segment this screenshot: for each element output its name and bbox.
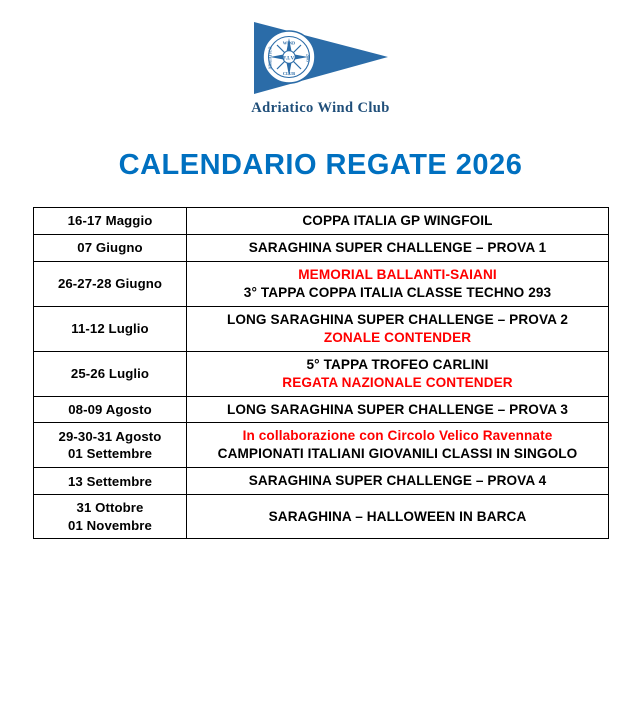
table-row: 07 GiugnoSARAGHINA SUPER CHALLENGE – PRO… — [34, 234, 609, 261]
event-name-cell: LONG SARAGHINA SUPER CHALLENGE – PROVA 3 — [187, 396, 609, 423]
event-name-cell: SARAGHINA SUPER CHALLENGE – PROVA 1 — [187, 234, 609, 261]
event-date-line: 11-12 Luglio — [38, 320, 182, 337]
event-title-line: SARAGHINA SUPER CHALLENGE – PROVA 1 — [191, 239, 604, 257]
event-date-cell: 25-26 Luglio — [34, 351, 187, 396]
event-title-line: 5° TAPPA TROFEO CARLINI — [191, 356, 604, 374]
event-name-cell: 5° TAPPA TROFEO CARLINIREGATA NAZIONALE … — [187, 351, 609, 396]
event-date-line: 29-30-31 Agosto — [38, 428, 182, 445]
event-title-line: LONG SARAGHINA SUPER CHALLENGE – PROVA 2 — [191, 311, 604, 329]
table-row: 29-30-31 Agosto01 SettembreIn collaboraz… — [34, 423, 609, 468]
event-date-line: 01 Novembre — [38, 517, 182, 534]
event-name-cell: SARAGHINA – HALLOWEEN IN BARCA — [187, 495, 609, 539]
event-title-line: COPPA ITALIA GP WINGFOIL — [191, 212, 604, 230]
event-name-cell: LONG SARAGHINA SUPER CHALLENGE – PROVA 2… — [187, 306, 609, 351]
burgee-svg: F.I.V. WIND CLUB ADRIATICO 2005 — [236, 18, 406, 98]
event-note-line: ZONALE CONTENDER — [191, 329, 604, 347]
table-row: 11-12 LuglioLONG SARAGHINA SUPER CHALLEN… — [34, 306, 609, 351]
event-note-line: REGATA NAZIONALE CONTENDER — [191, 374, 604, 392]
event-date-line: 31 Ottobre — [38, 499, 182, 516]
emblem-center-label: F.I.V. — [283, 56, 295, 62]
event-date-cell: 16-17 Maggio — [34, 208, 187, 235]
calendar-page: F.I.V. WIND CLUB ADRIATICO 2005 Adriatic… — [0, 0, 641, 710]
event-title-line: LONG SARAGHINA SUPER CHALLENGE – PROVA 3 — [191, 401, 604, 419]
table-row: 16-17 MaggioCOPPA ITALIA GP WINGFOIL — [34, 208, 609, 235]
event-name-cell: In collaborazione con Circolo Velico Rav… — [187, 423, 609, 468]
regatta-calendar-table: 16-17 MaggioCOPPA ITALIA GP WINGFOIL07 G… — [33, 207, 609, 539]
event-date-cell: 29-30-31 Agosto01 Settembre — [34, 423, 187, 468]
event-date-cell: 13 Settembre — [34, 468, 187, 495]
event-title-line: 3° TAPPA COPPA ITALIA CLASSE TECHNO 293 — [191, 284, 604, 302]
page-title: CALENDARIO REGATE 2026 — [0, 149, 641, 182]
emblem-ring-left-label: ADRIATICO — [267, 46, 272, 69]
event-date-line: 26-27-28 Giugno — [38, 275, 182, 292]
table-row: 08-09 AgostoLONG SARAGHINA SUPER CHALLEN… — [34, 396, 609, 423]
event-date-cell: 08-09 Agosto — [34, 396, 187, 423]
table-row: 31 Ottobre01 NovembreSARAGHINA – HALLOWE… — [34, 495, 609, 539]
event-name-cell: MEMORIAL BALLANTI-SAIANI3° TAPPA COPPA I… — [187, 261, 609, 306]
event-date-cell: 31 Ottobre01 Novembre — [34, 495, 187, 539]
event-date-line: 07 Giugno — [38, 239, 182, 256]
event-date-line: 08-09 Agosto — [38, 401, 182, 418]
event-date-line: 01 Settembre — [38, 445, 182, 462]
emblem-ring-top-label: WIND — [282, 41, 294, 46]
burgee-flag-icon: F.I.V. WIND CLUB ADRIATICO 2005 — [236, 18, 406, 98]
event-date-line: 25-26 Luglio — [38, 365, 182, 382]
table-row: 26-27-28 GiugnoMEMORIAL BALLANTI-SAIANI3… — [34, 261, 609, 306]
event-title-line: CAMPIONATI ITALIANI GIOVANILI CLASSI IN … — [191, 445, 604, 463]
event-date-cell: 26-27-28 Giugno — [34, 261, 187, 306]
calendar-table-body: 16-17 MaggioCOPPA ITALIA GP WINGFOIL07 G… — [34, 208, 609, 539]
event-note-line: MEMORIAL BALLANTI-SAIANI — [191, 266, 604, 284]
club-name-label: Adriatico Wind Club — [0, 100, 641, 117]
event-title-line: SARAGHINA SUPER CHALLENGE – PROVA 4 — [191, 472, 604, 490]
event-note-line: In collaborazione con Circolo Velico Rav… — [191, 427, 604, 445]
emblem-ring-bottom-label: CLUB — [282, 71, 294, 76]
event-name-cell: COPPA ITALIA GP WINGFOIL — [187, 208, 609, 235]
event-date-line: 13 Settembre — [38, 473, 182, 490]
event-date-line: 16-17 Maggio — [38, 212, 182, 229]
table-row: 13 SettembreSARAGHINA SUPER CHALLENGE – … — [34, 468, 609, 495]
table-row: 25-26 Luglio5° TAPPA TROFEO CARLINIREGAT… — [34, 351, 609, 396]
club-logo: F.I.V. WIND CLUB ADRIATICO 2005 Adriatic… — [0, 18, 641, 117]
event-date-cell: 07 Giugno — [34, 234, 187, 261]
event-name-cell: SARAGHINA SUPER CHALLENGE – PROVA 4 — [187, 468, 609, 495]
emblem-ring-right-label: 2005 — [305, 54, 310, 62]
event-title-line: SARAGHINA – HALLOWEEN IN BARCA — [191, 508, 604, 526]
event-date-cell: 11-12 Luglio — [34, 306, 187, 351]
